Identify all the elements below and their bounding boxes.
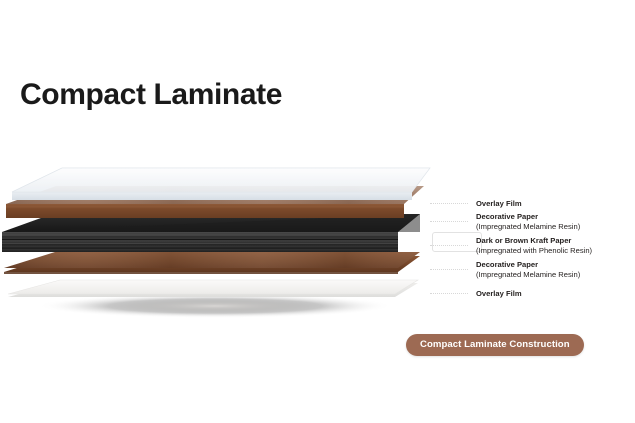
callout-text-4: Decorative Paper (Impregnated Melamine R… xyxy=(476,260,580,279)
layer-overlay-film-top xyxy=(12,168,430,200)
layer-decorative-paper-bottom xyxy=(4,252,420,274)
leader-line-3 xyxy=(430,245,468,247)
leader-line-5 xyxy=(430,293,468,295)
leader-line-2 xyxy=(430,221,468,223)
page-title: Compact Laminate xyxy=(20,80,282,110)
callout-text-3: Dark or Brown Kraft Paper (Impregnated w… xyxy=(476,236,592,255)
callout-text-5: Overlay Film xyxy=(476,289,522,299)
laminate-layer-diagram xyxy=(0,160,440,320)
leader-line-1 xyxy=(430,203,468,205)
construction-badge: Compact Laminate Construction xyxy=(406,334,584,356)
stack-drop-shadow xyxy=(37,294,393,318)
callout-list: Overlay Film Decorative Paper (Impregnat… xyxy=(430,196,635,306)
layer-overlay-film-bottom xyxy=(8,280,418,297)
layer-kraft-core xyxy=(2,214,420,252)
callout-text-1: Overlay Film xyxy=(476,199,522,209)
callout-text-2: Decorative Paper (Impregnated Melamine R… xyxy=(476,212,580,231)
leader-line-4 xyxy=(430,269,468,271)
kraft-core-bracket xyxy=(432,232,482,252)
